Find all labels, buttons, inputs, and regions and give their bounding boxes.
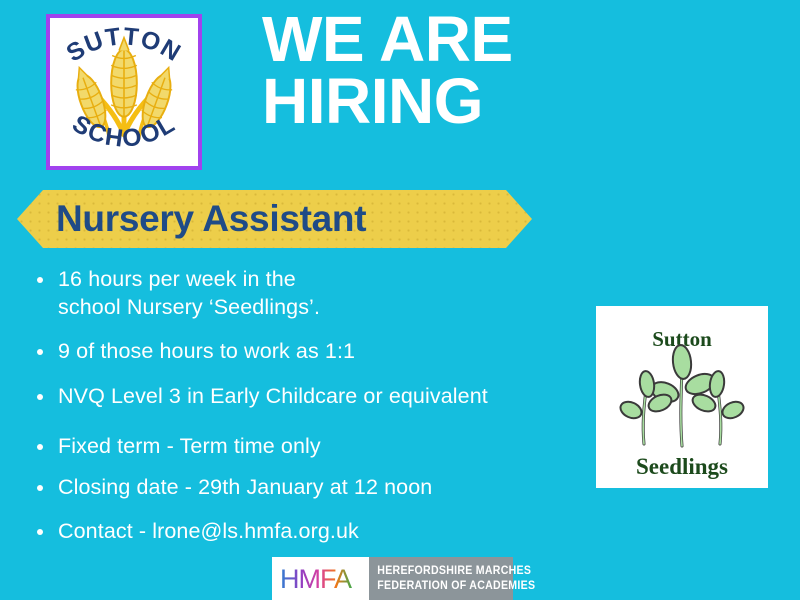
hmfa-name-line-2: FEDERATION OF ACADEMIES: [377, 579, 535, 593]
seedling-left-icon: [618, 370, 674, 444]
hmfa-wordmark-graphic: HMFA: [279, 564, 363, 594]
sutton-school-logo: SUTTON SCHOOL: [46, 14, 202, 170]
bullet-dot-icon: [37, 529, 43, 535]
bullet-dot-icon: [37, 394, 43, 400]
hmfa-wordmark: HMFA: [272, 557, 369, 600]
list-item-text: Closing date - 29th January at 12 noon: [58, 475, 432, 499]
list-item-text: 16 hours per week in the: [58, 267, 296, 291]
list-item: 9 of those hours to work as 1:1: [30, 338, 590, 366]
job-role-banner: Nursery Assistant: [17, 190, 532, 248]
list-item: Fixed term - Term time only: [30, 433, 590, 461]
page-title: WE ARE HIRING: [262, 8, 782, 132]
headline-line-2: HIRING: [262, 70, 782, 132]
hmfa-federation-name: HEREFORDSHIRE MARCHES FEDERATION OF ACAD…: [369, 557, 535, 600]
list-item-text-second-line: school Nursery ‘Seedlings’.: [58, 294, 590, 322]
job-advert-poster: SUTTON SCHOOL WE ARE HIRING Nursery Assi…: [0, 0, 800, 600]
bullet-dot-icon: [37, 349, 43, 355]
list-item: NVQ Level 3 in Early Childcare or equiva…: [30, 383, 590, 411]
bullet-dot-icon: [37, 485, 43, 491]
svg-text:HMFA: HMFA: [280, 564, 352, 594]
sutton-school-logo-graphic: SUTTON SCHOOL: [50, 18, 198, 166]
list-item-text: NVQ Level 3 in Early Childcare or equiva…: [58, 384, 488, 408]
bullet-dot-icon: [37, 277, 43, 283]
list-item-text: 9 of those hours to work as 1:1: [58, 339, 355, 363]
headline-line-1: WE ARE: [262, 8, 782, 70]
list-item: 16 hours per week in the school Nursery …: [30, 266, 590, 321]
job-role-title: Nursery Assistant: [17, 190, 532, 248]
seedlings-logo-bottom-text: Seedlings: [636, 454, 728, 479]
bullet-dot-icon: [37, 444, 43, 450]
job-details-list: 16 hours per week in the school Nursery …: [30, 266, 590, 546]
list-item: Closing date - 29th January at 12 noon: [30, 474, 590, 502]
list-item: Contact - lrone@ls.hmfa.org.uk: [30, 518, 590, 546]
sutton-seedlings-logo-graphic: Sutton: [596, 306, 768, 488]
list-item-text: Fixed term - Term time only: [58, 434, 321, 458]
contact-email-text: Contact - lrone@ls.hmfa.org.uk: [58, 519, 359, 543]
hmfa-name-line-1: HEREFORDSHIRE MARCHES: [377, 564, 535, 578]
sutton-seedlings-logo: Sutton: [596, 306, 768, 488]
hmfa-federation-logo: HMFA HEREFORDSHIRE MARCHES FEDERATION OF…: [272, 557, 513, 600]
